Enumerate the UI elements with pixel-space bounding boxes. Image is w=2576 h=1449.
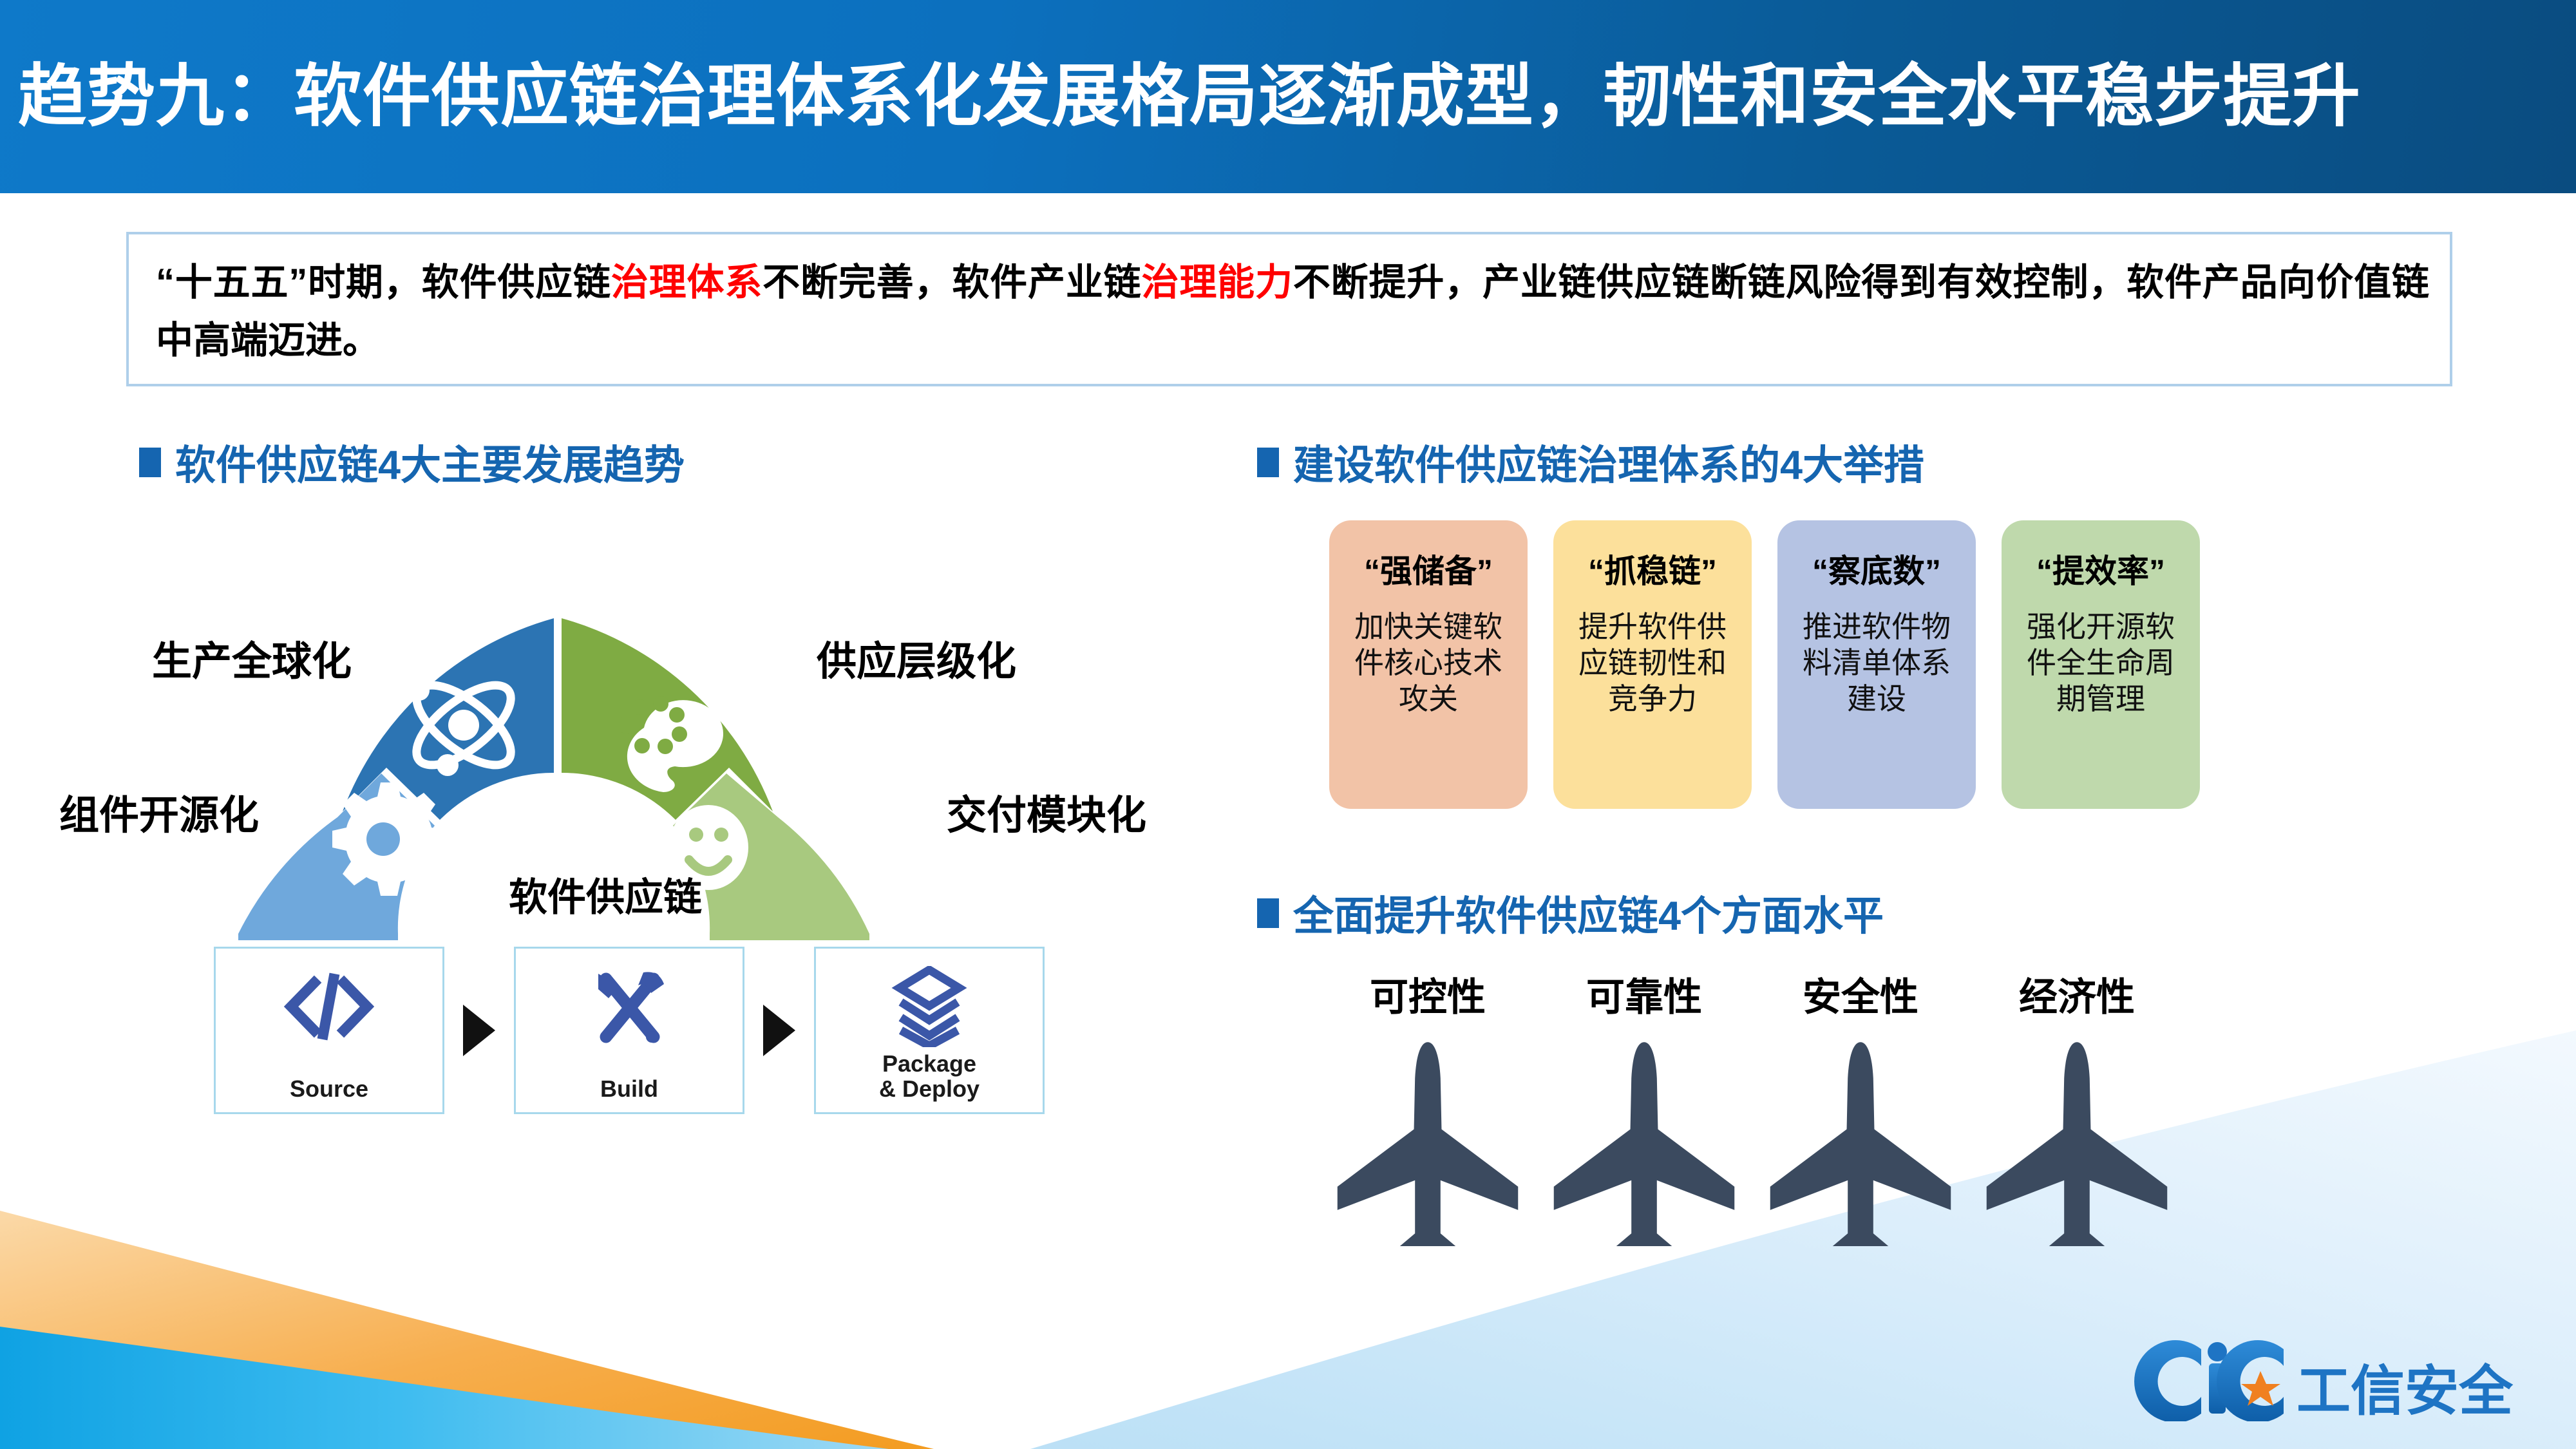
- code-brackets-icon: [281, 963, 377, 1050]
- cic-logo: 工信安全: [2134, 1338, 2546, 1425]
- hammer-wrench-icon: [584, 963, 674, 1050]
- aspect-economy: 经济性: [1971, 966, 2183, 1249]
- section-heading-left-label: 软件供应链4大主要发展趋势: [175, 433, 685, 491]
- airplane-icon: [1538, 1034, 1750, 1249]
- section-heading-aspects-label: 全面提升软件供应链4个方面水平: [1293, 884, 1884, 942]
- pipeline-step-source-label: Source: [216, 1077, 442, 1102]
- section-heading-aspects: 全面提升软件供应链4个方面水平: [1257, 884, 1884, 942]
- pipeline-step-source: Source: [214, 947, 444, 1114]
- measure-card-2-body: 推进软件物料清单体系建设: [1792, 609, 1962, 717]
- stacked-layers-icon: [891, 963, 968, 1050]
- arc-center-label: 软件供应链: [509, 866, 702, 922]
- arc-label-delivery-modularization: 交付模块化: [947, 782, 1146, 840]
- gear-icon: [332, 782, 446, 896]
- measure-card-1[interactable]: “抓稳链” 提升软件供应链韧性和竞争力: [1553, 520, 1752, 809]
- pipeline-arrow-2: [744, 947, 814, 1114]
- arc-label-supply-tiering: 供应层级化: [817, 629, 1016, 687]
- airplane-icon: [1971, 1034, 2183, 1249]
- pipeline-step-package-deploy-label: Package& Deploy: [816, 1052, 1043, 1102]
- bullet-square-icon: [1257, 448, 1279, 477]
- bullet-square-icon: [139, 448, 161, 477]
- aspect-reliability: 可靠性: [1538, 966, 1750, 1249]
- arc-label-component-open-source: 组件开源化: [59, 782, 259, 840]
- airplane-icon: [1754, 1034, 1967, 1249]
- summary-highlight-1: 治理体系: [611, 261, 762, 303]
- summary-callout-box: “十五五”时期，软件供应链治理体系不断完善，软件产业链治理能力不断提升，产业链供…: [126, 232, 2452, 386]
- measure-card-3-title: “提效率”: [2016, 554, 2186, 589]
- measure-card-2-title: “察底数”: [1792, 554, 1962, 589]
- aspect-controllability-label: 可控性: [1321, 966, 1534, 1022]
- aspect-reliability-label: 可靠性: [1538, 966, 1750, 1022]
- aspect-security-label: 安全性: [1754, 966, 1967, 1022]
- measure-card-2[interactable]: “察底数” 推进软件物料清单体系建设: [1777, 520, 1976, 809]
- logo-text: 工信安全: [2297, 1361, 2514, 1421]
- measure-card-1-body: 提升软件供应链韧性和竞争力: [1567, 609, 1738, 717]
- pipeline-step-build: Build: [514, 947, 744, 1114]
- section-heading-left: 软件供应链4大主要发展趋势: [139, 433, 685, 491]
- measure-card-0-body: 加快关键软件核心技术攻关: [1343, 609, 1513, 717]
- slide-title-bar: 趋势九：软件供应链治理体系化发展格局逐渐成型，韧性和安全水平稳步提升: [0, 0, 2576, 193]
- airplane-icon: [1321, 1034, 1534, 1249]
- section-heading-measures-label: 建设软件供应链治理体系的4大举措: [1293, 433, 1924, 491]
- bullet-square-icon: [1257, 898, 1279, 928]
- pipeline-step-build-label: Build: [516, 1077, 743, 1102]
- aspect-security: 安全性: [1754, 966, 1967, 1249]
- pipeline-arrow-1: [444, 947, 514, 1114]
- summary-part-1: “十五五”时期，软件供应链: [156, 261, 611, 303]
- build-pipeline: Source Build: [214, 947, 1051, 1114]
- aspect-economy-label: 经济性: [1971, 966, 2183, 1022]
- aspect-controllability: 可控性: [1321, 966, 1534, 1249]
- measure-card-3-body: 强化开源软件全生命周期管理: [2016, 609, 2186, 717]
- pipeline-step-package-deploy: Package& Deploy: [814, 947, 1045, 1114]
- section-heading-measures: 建设软件供应链治理体系的4大举措: [1257, 433, 1924, 491]
- measure-card-0-title: “强储备”: [1343, 554, 1513, 589]
- measure-card-1-title: “抓稳链”: [1567, 554, 1738, 589]
- summary-paragraph: “十五五”时期，软件供应链治理体系不断完善，软件产业链治理能力不断提升，产业链供…: [156, 254, 2429, 370]
- summary-highlight-2: 治理能力: [1142, 261, 1293, 303]
- measure-card-0[interactable]: “强储备” 加快关键软件核心技术攻关: [1329, 520, 1528, 809]
- arc-label-production-globalization: 生产全球化: [152, 629, 352, 687]
- measure-card-3[interactable]: “提效率” 强化开源软件全生命周期管理: [2002, 520, 2200, 809]
- page-title: 趋势九：软件供应链治理体系化发展格局逐渐成型，韧性和安全水平稳步提升: [18, 62, 2361, 131]
- summary-part-2: 不断完善，软件产业链: [762, 261, 1141, 303]
